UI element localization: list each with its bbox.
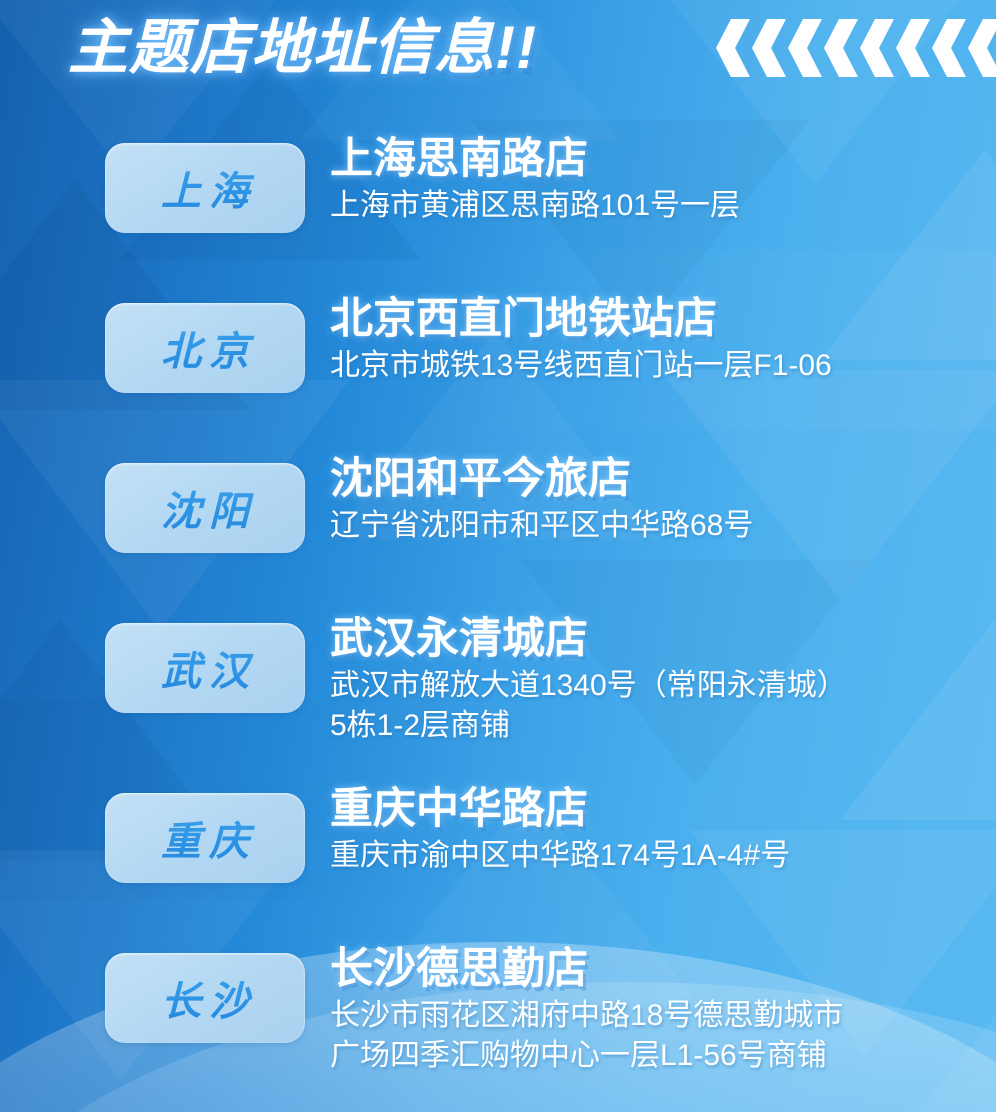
store-name: 重庆中华路店 xyxy=(330,782,790,836)
city-badge: 上海 xyxy=(105,143,305,233)
list-item[interactable]: 上海 上海思南路店 上海市黄浦区思南路101号一层 xyxy=(0,130,996,290)
store-address-poster: 主题店地址信息!! 上海 上海思南路店 上海市黄浦区思南路101号一层 xyxy=(0,0,996,1112)
store-address-line: 广场四季汇购物中心一层L1-56号商铺 xyxy=(330,1036,843,1076)
chevron-left-icon xyxy=(968,19,996,77)
chevron-left-icon xyxy=(896,19,930,77)
store-info: 重庆中华路店 重庆市渝中区中华路174号1A-4#号 xyxy=(330,780,790,876)
chevron-left-icon xyxy=(788,19,822,77)
store-address-line: 长沙市雨花区湘府中路18号德思勤城市 xyxy=(330,996,843,1036)
city-badge: 武汉 xyxy=(105,623,305,713)
store-address-line: 重庆市渝中区中华路174号1A-4#号 xyxy=(330,836,790,876)
city-badge: 重庆 xyxy=(105,793,305,883)
store-info: 武汉永清城店 武汉市解放大道1340号（常阳永清城） 5栋1-2层商铺 xyxy=(330,610,847,746)
store-info: 长沙德思勤店 长沙市雨花区湘府中路18号德思勤城市 广场四季汇购物中心一层L1-… xyxy=(330,940,843,1076)
list-item[interactable]: 沈阳 沈阳和平今旅店 辽宁省沈阳市和平区中华路68号 xyxy=(0,450,996,610)
store-list: 上海 上海思南路店 上海市黄浦区思南路101号一层 北京 北京西直门地铁站店 北… xyxy=(0,130,996,1110)
store-info: 沈阳和平今旅店 辽宁省沈阳市和平区中华路68号 xyxy=(330,450,753,546)
chevron-strip xyxy=(716,19,996,77)
city-badge: 长沙 xyxy=(105,953,305,1043)
chevron-left-icon xyxy=(932,19,966,77)
city-badge-label: 武汉 xyxy=(153,639,257,697)
city-badge: 沈阳 xyxy=(105,463,305,553)
store-address-line: 北京市城铁13号线西直门站一层F1-06 xyxy=(330,346,832,386)
list-item[interactable]: 长沙 长沙德思勤店 长沙市雨花区湘府中路18号德思勤城市 广场四季汇购物中心一层… xyxy=(0,940,996,1110)
city-badge-label: 上海 xyxy=(153,159,257,217)
store-info: 北京西直门地铁站店 北京市城铁13号线西直门站一层F1-06 xyxy=(330,290,832,386)
city-badge: 北京 xyxy=(105,303,305,393)
city-badge-label: 沈阳 xyxy=(153,479,257,537)
store-info: 上海思南路店 上海市黄浦区思南路101号一层 xyxy=(330,130,740,226)
chevron-left-icon xyxy=(824,19,858,77)
store-name: 北京西直门地铁站店 xyxy=(330,292,832,346)
store-name: 沈阳和平今旅店 xyxy=(330,452,753,506)
list-item[interactable]: 北京 北京西直门地铁站店 北京市城铁13号线西直门站一层F1-06 xyxy=(0,290,996,450)
store-address-line: 上海市黄浦区思南路101号一层 xyxy=(330,186,740,226)
list-item[interactable]: 重庆 重庆中华路店 重庆市渝中区中华路174号1A-4#号 xyxy=(0,780,996,940)
page-title: 主题店地址信息!! xyxy=(68,8,537,88)
store-name: 长沙德思勤店 xyxy=(330,942,843,996)
chevron-left-icon xyxy=(716,19,750,77)
store-address-line: 武汉市解放大道1340号（常阳永清城） xyxy=(330,666,847,706)
city-badge-label: 重庆 xyxy=(153,809,257,867)
store-address-line: 5栋1-2层商铺 xyxy=(330,706,847,746)
list-item[interactable]: 武汉 武汉永清城店 武汉市解放大道1340号（常阳永清城） 5栋1-2层商铺 xyxy=(0,610,996,780)
store-name: 上海思南路店 xyxy=(330,132,740,186)
store-address-line: 辽宁省沈阳市和平区中华路68号 xyxy=(330,506,753,546)
chevron-left-icon xyxy=(860,19,894,77)
city-badge-label: 北京 xyxy=(153,319,257,377)
poster-header: 主题店地址信息!! xyxy=(0,0,996,100)
chevron-left-icon xyxy=(752,19,786,77)
city-badge-label: 长沙 xyxy=(153,969,257,1027)
store-name: 武汉永清城店 xyxy=(330,612,847,666)
